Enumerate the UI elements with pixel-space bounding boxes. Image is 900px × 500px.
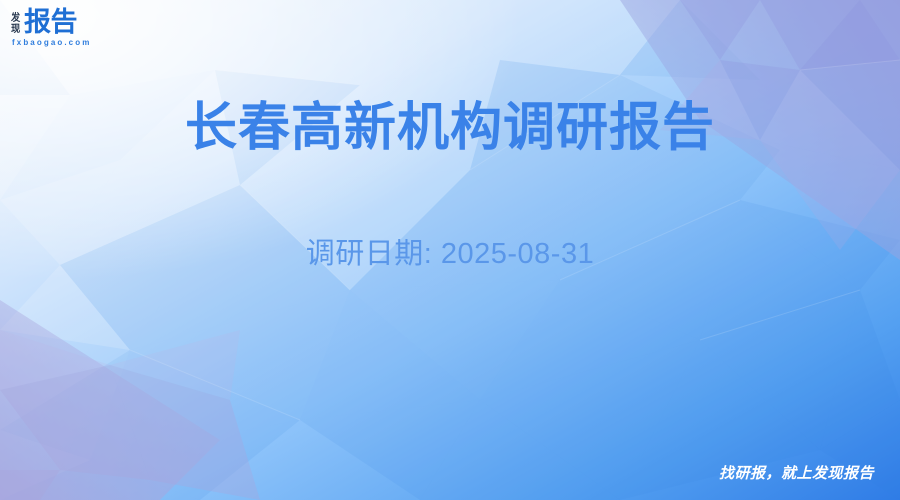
background-polygon-pattern xyxy=(0,0,900,500)
logo-url-text: fxbaogao.com xyxy=(12,38,161,48)
logo-stacked-chars: 发 现 xyxy=(11,13,21,36)
report-cover-slide: 发 现 报告 fxbaogao.com 长春高新机构调研报告 调研日期: 202… xyxy=(0,0,900,500)
footer-slogan: 找研报，就上发现报告 xyxy=(719,464,874,484)
logo-wordmark: 报告 xyxy=(24,9,77,36)
logo-char-fa: 发 xyxy=(11,13,20,24)
logo-wordmark-row: 发 现 报告 xyxy=(11,9,161,36)
logo-char-xian: 现 xyxy=(11,24,20,35)
brand-logo[interactable]: 发 现 报告 fxbaogao.com xyxy=(11,9,161,48)
